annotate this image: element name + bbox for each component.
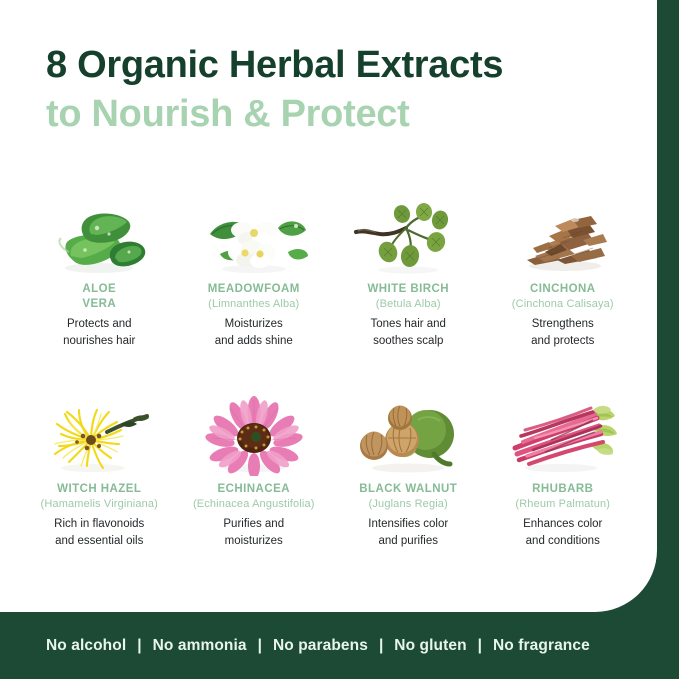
ingredient-description: Moisturizes and adds shine	[215, 316, 293, 349]
ingredient-name: BLACK WALNUT	[359, 482, 457, 497]
ingredient-latin-name: (Echinacea Angustifolia)	[193, 497, 315, 511]
witch-hazel-icon	[41, 390, 157, 476]
aloe-vera-icon	[41, 190, 157, 276]
claim-no-ammonia: No ammonia	[153, 637, 247, 655]
ingredient-latin-name: (Hamamelis Virginiana)	[41, 497, 158, 511]
ingredient-latin-name: (Cinchona Calisaya)	[512, 297, 614, 311]
ingredient-description: Rich in flavonoids and essential oils	[54, 516, 144, 549]
ingredient-card-cinchona: CINCHONA (Cinchona Calisaya) Strengthens…	[486, 190, 641, 390]
ingredient-card-witch-hazel: WITCH HAZEL (Hamamelis Virginiana) Rich …	[22, 390, 177, 590]
ingredient-description: Strengthens and protects	[531, 316, 594, 349]
infographic-poster: 8 Organic Herbal Extracts to Nourish & P…	[0, 0, 679, 679]
claim-no-alcohol: No alcohol	[46, 637, 126, 655]
ingredient-description: Enhances color and conditions	[523, 516, 602, 549]
ingredients-grid: ALOE VERA Protects and nourishes hair	[22, 190, 640, 590]
ingredient-description: Tones hair and soothes scalp	[371, 316, 446, 349]
title-line-primary: 8 Organic Herbal Extracts	[46, 44, 626, 87]
ingredient-name: ALOE VERA	[82, 282, 116, 311]
ingredient-latin-name: (Betula Alba)	[376, 297, 441, 311]
echinacea-icon	[196, 390, 312, 476]
ingredient-name: MEADOWFOAM	[208, 282, 300, 297]
ingredient-name: WHITE BIRCH	[367, 282, 449, 297]
page-title: 8 Organic Herbal Extracts to Nourish & P…	[46, 44, 626, 135]
ingredient-card-black-walnut: BLACK WALNUT (Juglans Regia) Intensifies…	[331, 390, 486, 590]
ingredient-card-meadowfoam: MEADOWFOAM (Limnanthes Alba) Moisturizes…	[177, 190, 332, 390]
ingredient-name: WITCH HAZEL	[57, 482, 141, 497]
ingredient-card-aloe-vera: ALOE VERA Protects and nourishes hair	[22, 190, 177, 390]
claim-separator: |	[126, 637, 152, 655]
claims-bar: No alcohol | No ammonia | No parabens | …	[0, 612, 679, 679]
black-walnut-icon	[350, 390, 466, 476]
ingredient-latin-name: (Limnanthes Alba)	[208, 297, 299, 311]
ingredient-name: CINCHONA	[530, 282, 596, 297]
ingredient-name: RHUBARB	[532, 482, 593, 497]
claims-row: No alcohol | No ammonia | No parabens | …	[46, 637, 590, 655]
ingredient-latin-name: (Rheum Palmatun)	[515, 497, 610, 511]
ingredient-latin-name: (Juglans Regia)	[369, 497, 448, 511]
rhubarb-icon	[505, 390, 621, 476]
right-green-band	[657, 0, 679, 679]
ingredient-card-echinacea: ECHINACEA (Echinacea Angustifolia) Purif…	[177, 390, 332, 590]
claim-no-fragrance: No fragrance	[493, 637, 590, 655]
cinchona-icon	[505, 190, 621, 276]
title-line-secondary: to Nourish & Protect	[46, 93, 626, 136]
ingredient-card-white-birch: WHITE BIRCH (Betula Alba) Tones hair and…	[331, 190, 486, 390]
claim-separator: |	[467, 637, 493, 655]
claim-no-gluten: No gluten	[394, 637, 466, 655]
ingredient-name: ECHINACEA	[218, 482, 290, 497]
white-birch-icon	[350, 190, 466, 276]
meadowfoam-icon	[196, 190, 312, 276]
ingredient-card-rhubarb: RHUBARB (Rheum Palmatun) Enhances color …	[486, 390, 641, 590]
claim-separator: |	[368, 637, 394, 655]
ingredient-description: Intensifies color and purifies	[368, 516, 448, 549]
ingredient-description: Protects and nourishes hair	[63, 316, 135, 349]
ingredient-description: Purifies and moisturizes	[223, 516, 284, 549]
claim-separator: |	[247, 637, 273, 655]
claim-no-parabens: No parabens	[273, 637, 368, 655]
